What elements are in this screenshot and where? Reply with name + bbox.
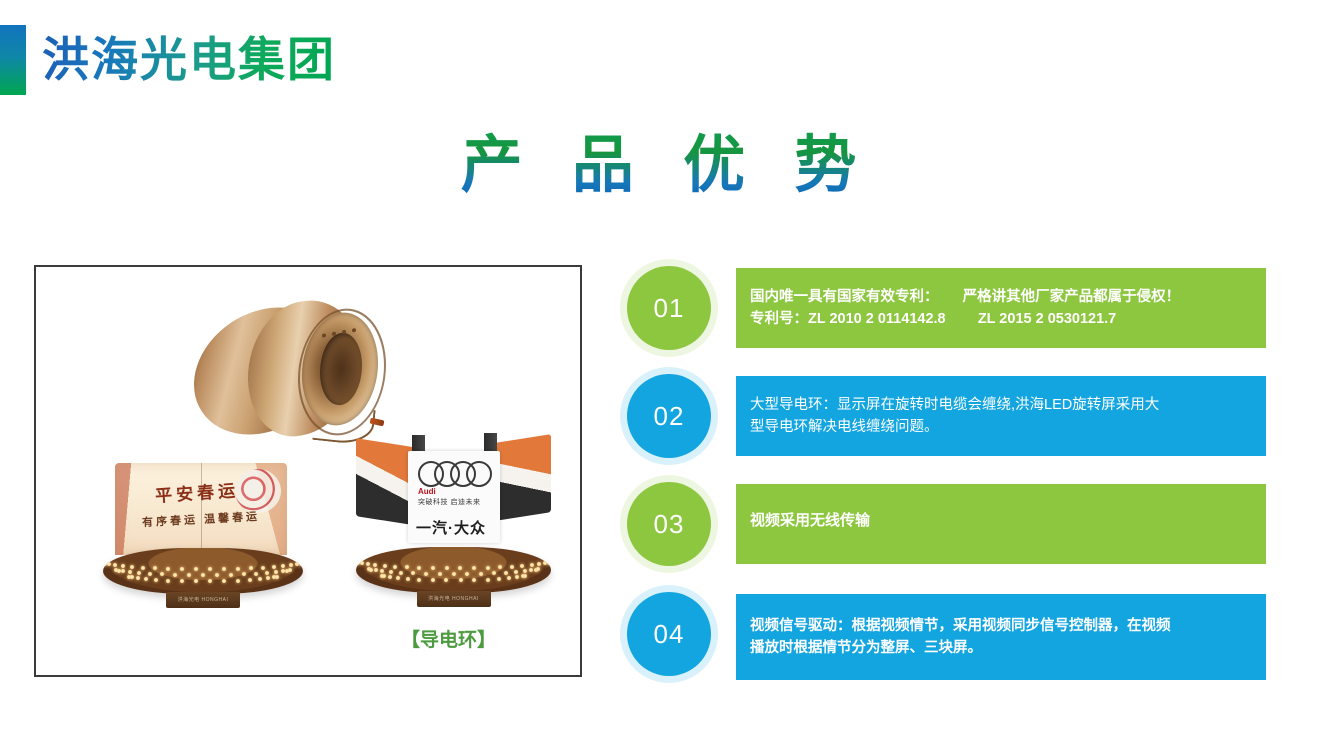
audi-slogan-text: 突破科技 启迪未来 bbox=[418, 497, 480, 507]
advantage-number-badge-1: 01 bbox=[627, 266, 711, 350]
advantage-number-badge-3: 03 bbox=[627, 482, 711, 566]
nameplate-text: 洪海光电 HONGHAI bbox=[417, 595, 491, 602]
audi-rings-icon bbox=[418, 461, 490, 483]
advantage-item-2: 02 大型导电环：显示屏在旋转时电缆会缠绕,洪海LED旋转屏采用大 型导电环解决… bbox=[620, 370, 1280, 462]
advantage-number-badge-2: 02 bbox=[627, 374, 711, 458]
screen-seam bbox=[201, 463, 202, 555]
whole-screen-panel: 平安春运 有序春运 温馨春运 bbox=[115, 463, 287, 555]
advantage-panel-4: 视频信号驱动：根据视频情节，采用视频同步信号控制器，在视频 播放时根据情节分为整… bbox=[736, 594, 1266, 680]
audi-brand-text: Audi bbox=[418, 487, 436, 496]
page-title: 产 品 优 势 bbox=[0, 128, 1333, 204]
brand-name: 洪海光电集团 bbox=[42, 30, 336, 90]
advantage-item-3: 03 视频采用无线传输 bbox=[620, 478, 1280, 570]
split-screen-nameplate: 洪海光电 HONGHAI bbox=[417, 591, 491, 607]
advantage-text-2: 大型导电环：显示屏在旋转时电缆会缠绕,洪海LED旋转屏采用大 型导电环解决电线缠… bbox=[750, 394, 1159, 438]
advantage-text-3: 视频采用无线传输 bbox=[750, 510, 870, 532]
split-screen-panels: Audi 突破科技 启迪未来 一汽·大众 bbox=[356, 427, 551, 547]
advantage-panel-1: 国内唯一具有国家有效专利： 严格讲其他厂家产品都属于侵权！ 专利号：ZL 201… bbox=[736, 268, 1266, 348]
whole-screen-display-photo: 平安春运 有序春运 温馨春运 洪海光电 HONGHAI bbox=[103, 463, 303, 608]
product-photo-panel: 平安春运 有序春运 温馨春运 洪海光电 HONGHAI Audi 突破科技 启迪… bbox=[34, 265, 582, 677]
advantage-text-4: 视频信号驱动：根据视频情节，采用视频同步信号控制器，在视频 播放时根据情节分为整… bbox=[750, 615, 1171, 659]
advantage-panel-3: 视频采用无线传输 bbox=[736, 484, 1266, 564]
led-bulbs bbox=[103, 554, 303, 588]
advantages-list: 01 国内唯一具有国家有效专利： 严格讲其他厂家产品都属于侵权！ 专利号：ZL … bbox=[620, 262, 1280, 692]
advantage-text-1: 国内唯一具有国家有效专利： 严格讲其他厂家产品都属于侵权！ 专利号：ZL 201… bbox=[750, 286, 1180, 330]
brand-accent-bar bbox=[0, 25, 26, 95]
advantage-item-4: 04 视频信号驱动：根据视频情节，采用视频同步信号控制器，在视频 播放时根据情节… bbox=[620, 588, 1280, 686]
advantage-item-1: 01 国内唯一具有国家有效专利： 严格讲其他厂家产品都属于侵权！ 专利号：ZL … bbox=[620, 262, 1280, 354]
split-screen-display-photo: Audi 突破科技 启迪未来 一汽·大众 洪海光电 HONGHAI bbox=[356, 427, 551, 607]
advantage-number-badge-4: 04 bbox=[627, 592, 711, 676]
split-screen-center-panel: Audi 突破科技 启迪未来 一汽·大众 bbox=[408, 451, 500, 543]
whole-screen-base bbox=[103, 548, 303, 594]
advantage-panel-2: 大型导电环：显示屏在旋转时电缆会缠绕,洪海LED旋转屏采用大 型导电环解决电线缠… bbox=[736, 376, 1266, 456]
whole-screen-nameplate: 洪海光电 HONGHAI bbox=[166, 592, 240, 608]
faw-vw-text: 一汽·大众 bbox=[416, 517, 486, 538]
slip-ring-label: 【导电环】 bbox=[401, 625, 496, 652]
slide-header: 洪海光电集团 bbox=[0, 0, 1333, 110]
nameplate-text: 洪海光电 HONGHAI bbox=[166, 596, 240, 603]
led-bulbs bbox=[356, 553, 551, 587]
split-screen-base bbox=[356, 547, 551, 593]
